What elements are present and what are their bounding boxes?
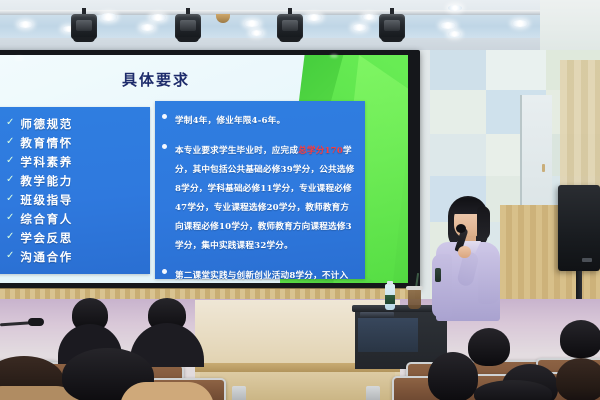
slide-content: 具体要求 ✓ 师德规范 ✓ 教育情怀 ✓ 学科素养	[0, 55, 408, 283]
pa-speaker-badge	[582, 258, 592, 262]
check-icon: ✓	[6, 175, 14, 185]
check-icon: ✓	[6, 156, 14, 166]
list-item: 第二课堂实践与创新创业活动8学分，不计入总学分。	[155, 265, 365, 283]
check-icon: ✓	[6, 137, 14, 147]
bullet-text: 第二课堂实践与创新创业活动8学分，不计入总学分。	[175, 271, 348, 283]
check-icon: ✓	[6, 213, 14, 223]
stage-spotlight-icon	[71, 8, 97, 42]
bullet-icon	[162, 144, 167, 149]
bullet-text: 学制4年，修业年限4-6年。	[175, 116, 285, 126]
stage-spotlight-icon	[277, 8, 303, 42]
audience-head	[428, 352, 478, 400]
check-icon: ✓	[6, 118, 14, 128]
seat-armrest	[366, 386, 380, 400]
list-item-label: 沟通合作	[20, 249, 72, 265]
drink-cup-lid	[406, 286, 423, 290]
list-item: 本专业要求学生毕业时，应完成总学分170学分，其中包括公共基础必修39学分，公共…	[155, 140, 365, 254]
list-item-label: 师德规范	[20, 116, 72, 132]
list-item-label: 综合育人	[20, 211, 72, 227]
list-item: ✓ 沟通合作	[0, 247, 150, 266]
list-item: ✓ 学会反思	[0, 228, 150, 247]
bullet-icon	[162, 269, 167, 274]
requirements-bullet-list: 学制4年，修业年限4-6年。 本专业要求学生毕业时，应完成总学分170学分，其中…	[155, 101, 365, 283]
lecture-hall-photo: 具体要求 ✓ 师德规范 ✓ 教育情怀 ✓ 学科素养	[0, 0, 600, 400]
slide-left-box: ✓ 师德规范 ✓ 教育情怀 ✓ 学科素养 ✓ 教学能力	[0, 107, 150, 274]
highlighted-credits: 总学分170	[298, 146, 343, 156]
list-item-label: 学会反思	[20, 230, 72, 246]
presenter-hair-side	[477, 206, 490, 240]
audience-head	[556, 358, 600, 400]
downlight-icon	[150, 14, 166, 21]
downlight-icon	[448, 31, 461, 37]
audience-head	[560, 320, 600, 358]
list-item-label: 教育情怀	[20, 135, 72, 151]
downlight-icon	[100, 13, 117, 21]
ceiling-right-section	[540, 0, 600, 56]
microphone-head-icon	[456, 224, 466, 233]
side-door[interactable]	[520, 95, 552, 220]
downlight-icon	[18, 21, 33, 28]
water-bottle-cap	[387, 281, 393, 285]
list-item: ✓ 教育情怀	[0, 133, 150, 152]
presenter-right-arm	[478, 252, 500, 304]
door-handle-icon[interactable]	[542, 164, 545, 172]
check-icon: ✓	[6, 194, 14, 204]
list-item: ✓ 教学能力	[0, 171, 150, 190]
list-item: ✓ 班级指导	[0, 190, 150, 209]
audience-head	[468, 328, 510, 366]
list-item: ✓ 师德规范	[0, 114, 150, 133]
downlight-icon	[362, 14, 376, 20]
list-item-label: 班级指导	[20, 192, 72, 208]
list-item-label: 教学能力	[20, 173, 72, 189]
downlight-icon	[440, 22, 456, 29]
lens-highlight	[330, 54, 338, 58]
downlight-icon	[250, 30, 263, 36]
projection-screen: 具体要求 ✓ 师德规范 ✓ 教育情怀 ✓ 学科素养	[0, 50, 420, 288]
stage-spotlight-icon	[379, 8, 405, 42]
list-item: ✓ 学科素养	[0, 152, 150, 171]
downlight-icon	[306, 14, 322, 21]
downlight-icon	[244, 20, 260, 27]
check-icon: ✓	[6, 232, 14, 242]
presentation-clicker-icon	[435, 268, 441, 282]
audience-area	[0, 298, 600, 400]
competency-list: ✓ 师德规范 ✓ 教育情怀 ✓ 学科素养 ✓ 教学能力	[0, 107, 150, 266]
downlight-icon	[352, 24, 367, 31]
seat-armrest	[232, 386, 246, 400]
stage-spotlight-icon	[175, 8, 201, 42]
downlight-icon	[448, 5, 462, 11]
slide-title: 具体要求	[122, 69, 190, 90]
audience-shoulders	[120, 382, 214, 400]
check-icon: ✓	[6, 251, 14, 261]
list-item-label: 学科素养	[20, 154, 72, 170]
bullet-text: 本专业要求学生毕业时，应完成总学分170学分，其中包括公共基础必修39学分，公共…	[175, 146, 354, 251]
presenter-hand	[458, 246, 471, 258]
bullet-icon	[162, 114, 167, 119]
list-item: ✓ 综合育人	[0, 209, 150, 228]
downlight-icon	[512, 20, 528, 27]
list-item: 学制4年，修业年限4-6年。	[155, 110, 365, 129]
downlight-icon	[140, 24, 155, 31]
lens-highlight	[14, 56, 24, 61]
pa-speaker	[558, 185, 600, 271]
slide-right-box: 学制4年，修业年限4-6年。 本专业要求学生毕业时，应完成总学分170学分，其中…	[155, 101, 365, 279]
